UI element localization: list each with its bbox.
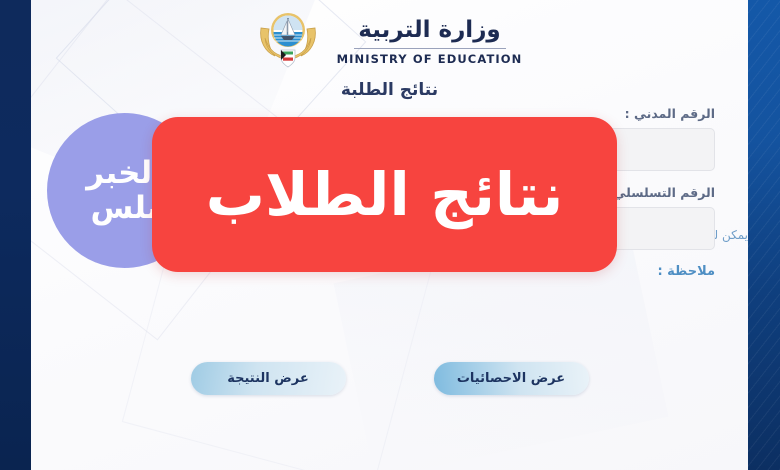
ministry-name-english: MINISTRY OF EDUCATION [337,52,523,66]
left-navy-bar [0,0,31,470]
page-title: نتائج الطلبة [341,80,438,100]
screenshot-root: وزارة التربية MINISTRY OF EDUCATION [0,0,780,470]
brand-row: وزارة التربية MINISTRY OF EDUCATION [257,8,523,70]
watermark-line-2: بلس [90,192,158,225]
wordmark-divider [354,48,506,49]
red-banner-text: نتائج الطلاب [206,165,564,224]
ministry-name-arabic: وزارة التربية [358,16,500,45]
right-blue-bar [748,0,780,470]
kuwait-emblem-icon [257,8,319,70]
red-overlay-banner: نتائج الطلاب [152,117,617,272]
show-statistics-button[interactable]: عرض الاحصائيات [434,362,589,395]
action-button-row: عرض الاحصائيات عرض النتيجة [71,362,708,395]
page-header: وزارة التربية MINISTRY OF EDUCATION [31,8,748,100]
ministry-wordmark: وزارة التربية MINISTRY OF EDUCATION [337,12,523,67]
show-result-button[interactable]: عرض النتيجة [191,362,346,395]
